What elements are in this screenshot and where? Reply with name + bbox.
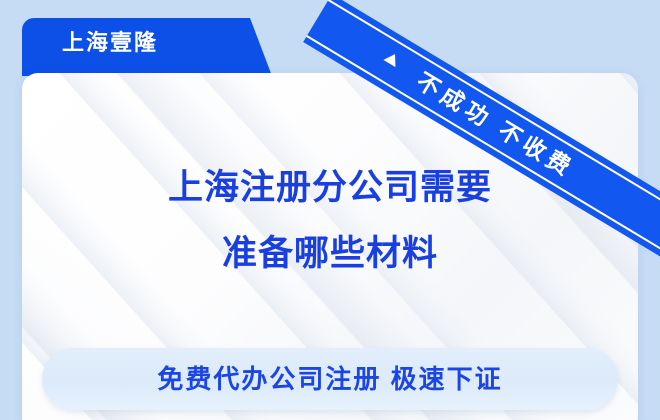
brand-tab-label: 上海壹隆 — [62, 28, 158, 58]
promo-banner-label: 免费代办公司注册 极速下证 — [42, 348, 618, 410]
promo-poster: 上海壹隆 上海注册分公司需要 准备哪些材料 免费代办公司注册 极速下证 不成功 … — [0, 0, 660, 420]
page-title-line-2: 准备哪些材料 — [22, 221, 638, 287]
triangle-up-icon — [383, 50, 401, 67]
promo-banner[interactable]: 免费代办公司注册 极速下证 — [42, 348, 618, 410]
brand-tab: 上海壹隆 — [22, 18, 272, 76]
